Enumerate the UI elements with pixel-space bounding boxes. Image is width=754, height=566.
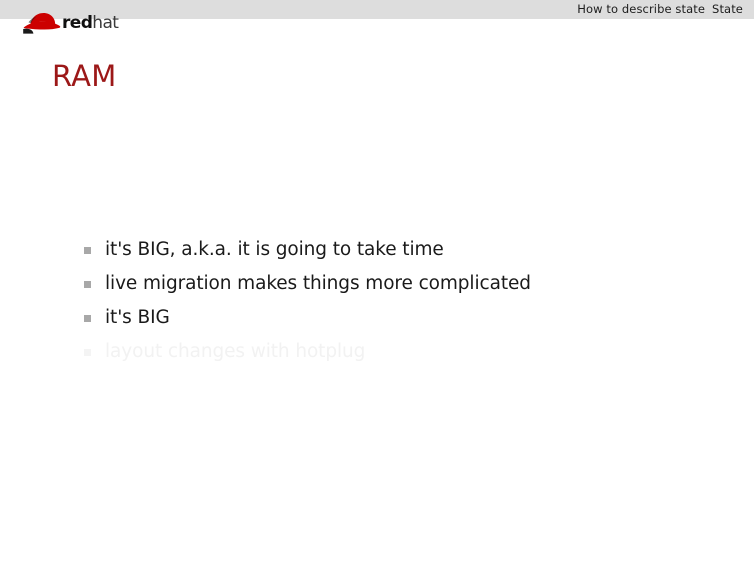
- slide-title: RAM: [52, 59, 116, 93]
- wordmark-hat: hat: [92, 13, 118, 33]
- list-item-label: layout changes with hotplug: [105, 340, 704, 364]
- presentation-slide: How to describe state State redhat RAM i…: [0, 0, 754, 566]
- list-item: live migration makes things more complic…: [84, 272, 704, 306]
- list-item-label: it's BIG: [105, 306, 704, 330]
- shadowman-icon: [22, 10, 64, 36]
- redhat-wordmark: redhat: [62, 13, 118, 33]
- square-bullet-icon: [84, 247, 91, 254]
- list-item: it's BIG: [84, 306, 704, 340]
- bullet-list: it's BIG, a.k.a. it is going to take tim…: [84, 238, 704, 374]
- wordmark-red: red: [62, 13, 92, 33]
- beamer-navigation: How to describe state State: [577, 1, 743, 18]
- square-bullet-icon: [84, 315, 91, 322]
- list-item-label: live migration makes things more complic…: [105, 272, 704, 296]
- square-bullet-icon: [84, 281, 91, 288]
- list-item-label: it's BIG, a.k.a. it is going to take tim…: [105, 238, 704, 262]
- square-bullet-icon: [84, 349, 91, 356]
- nav-subsection-state[interactable]: State: [712, 1, 743, 18]
- nav-section-how-to-describe-state[interactable]: How to describe state: [577, 1, 705, 18]
- redhat-logo: redhat: [22, 10, 142, 38]
- list-item: it's BIG, a.k.a. it is going to take tim…: [84, 238, 704, 272]
- list-item-unrevealed: layout changes with hotplug: [84, 340, 704, 374]
